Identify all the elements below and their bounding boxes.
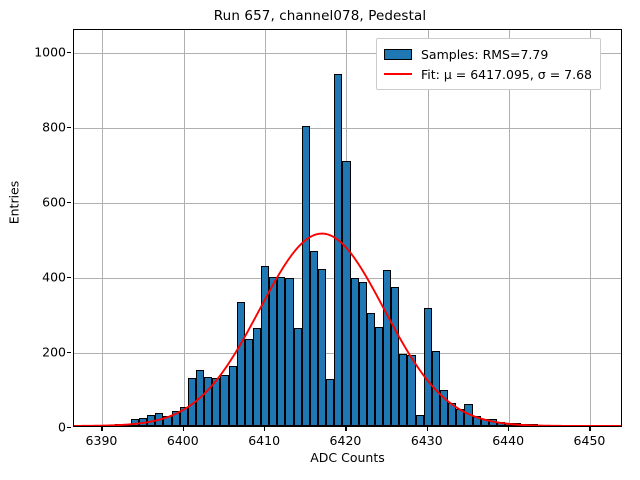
histogram-bar <box>155 413 163 426</box>
histogram-bar <box>334 74 342 426</box>
x-axis-label: ADC Counts <box>73 450 622 465</box>
x-tick-label: 6420 <box>330 433 362 448</box>
histogram-bar <box>407 355 415 426</box>
y-tick-mark <box>67 52 71 53</box>
histogram-bar <box>424 308 432 426</box>
x-tick-label: 6400 <box>167 433 199 448</box>
histogram-bar <box>342 161 350 426</box>
histogram-bar <box>310 251 318 426</box>
histogram-bar <box>261 266 269 426</box>
histogram-bar <box>220 375 228 426</box>
y-tick-mark <box>67 352 71 353</box>
histogram-bar <box>513 423 521 426</box>
chart-title: Run 657, channel078, Pedestal <box>0 8 640 24</box>
histogram-bar <box>294 328 302 426</box>
histogram-bar <box>529 424 537 426</box>
histogram-bar <box>399 354 407 426</box>
histogram-bar <box>440 390 448 426</box>
histogram-bar <box>229 366 237 426</box>
histogram-bar <box>172 411 180 426</box>
x-tick-label: 6440 <box>492 433 524 448</box>
x-tick-label: 6450 <box>574 433 606 448</box>
histogram-bar <box>456 409 464 426</box>
histogram-bar <box>204 377 212 426</box>
histogram-bar <box>180 407 188 426</box>
histogram-bar <box>302 126 310 426</box>
histogram-bar <box>326 379 334 426</box>
histogram-bar <box>139 418 147 426</box>
y-tick-mark <box>67 127 71 128</box>
histogram-bar <box>196 370 204 426</box>
y-tick-mark <box>67 427 71 428</box>
histogram-bar <box>521 424 529 426</box>
legend-label-samples: Samples: RMS=7.79 <box>421 47 548 62</box>
histogram-bar <box>253 328 261 426</box>
histogram-bar <box>318 269 326 426</box>
histogram-bar <box>277 277 285 426</box>
histogram-bar <box>367 313 375 426</box>
legend-line-icon <box>384 73 412 75</box>
chart-legend: Samples: RMS=7.79 Fit: μ = 6417.095, σ =… <box>376 38 601 90</box>
histogram-bar <box>115 424 123 426</box>
x-tick-label: 6410 <box>248 433 280 448</box>
histogram-bar <box>285 278 293 426</box>
histogram-bar <box>245 339 253 426</box>
histogram-bar <box>163 416 171 427</box>
histogram-bar <box>237 302 245 426</box>
histogram-bar <box>188 378 196 426</box>
histogram-bar <box>131 419 139 426</box>
histogram-bar <box>481 419 489 427</box>
histogram-bar <box>212 378 220 426</box>
histogram-bar <box>464 404 472 426</box>
histogram-bar <box>432 351 440 426</box>
histogram-bar <box>473 416 481 427</box>
legend-patch-icon <box>384 49 412 60</box>
histogram-bar <box>147 415 155 426</box>
y-tick-mark <box>67 202 71 203</box>
histogram-bar <box>351 278 359 426</box>
histogram-bar <box>391 287 399 426</box>
histogram-bar <box>383 270 391 426</box>
x-tick-label-group: 6390640064106420643064406450 <box>73 427 622 451</box>
x-tick-label: 6430 <box>411 433 443 448</box>
histogram-bar <box>375 327 383 427</box>
y-tick-mark-group <box>0 29 73 427</box>
histogram-bar <box>416 415 424 426</box>
histogram-bar <box>497 422 505 427</box>
histogram-bar <box>359 282 367 426</box>
legend-label-fit: Fit: μ = 6417.095, σ = 7.68 <box>421 67 592 82</box>
legend-item-samples[interactable]: Samples: RMS=7.79 <box>384 44 592 64</box>
legend-item-fit[interactable]: Fit: μ = 6417.095, σ = 7.68 <box>384 64 592 84</box>
histogram-bar <box>448 403 456 426</box>
histogram-bar <box>269 277 277 426</box>
y-tick-mark <box>67 277 71 278</box>
histogram-bar <box>123 424 131 426</box>
x-tick-label: 6390 <box>86 433 118 448</box>
chart-figure: Run 657, channel078, Pedestal Entries 02… <box>0 0 640 480</box>
histogram-bar <box>505 423 513 426</box>
histogram-bar <box>489 419 497 426</box>
